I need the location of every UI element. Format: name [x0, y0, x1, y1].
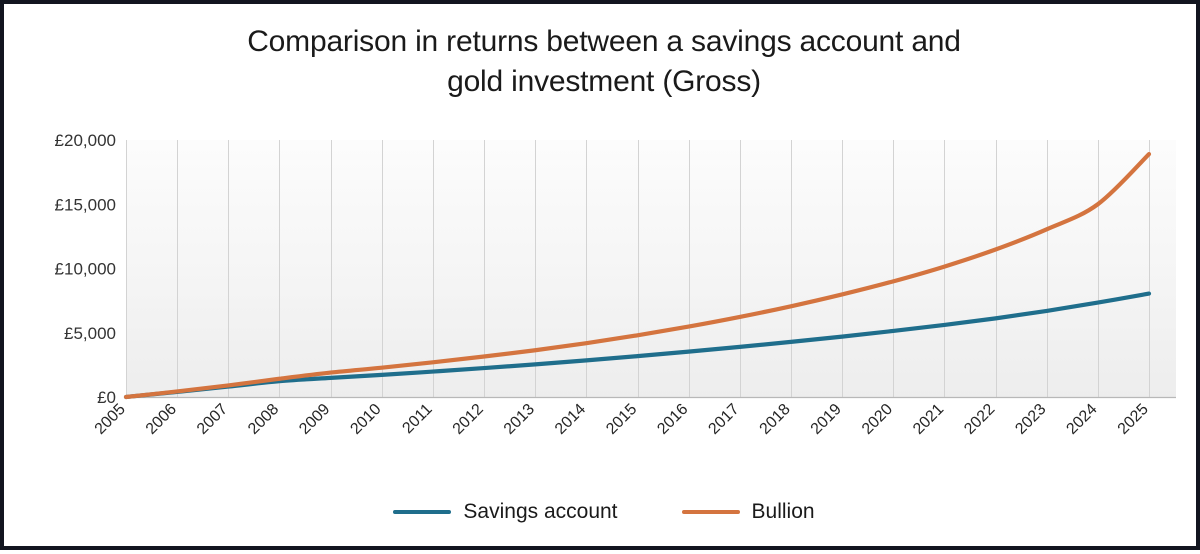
legend-item[interactable]: Savings account — [393, 500, 617, 524]
legend-item-label: Savings account — [463, 500, 617, 524]
x-axis-tick-label: 2008 — [245, 401, 282, 438]
x-axis-tick-label: 2024 — [1063, 401, 1100, 438]
x-axis-tick-label: 2007 — [194, 401, 231, 438]
plot-background — [126, 140, 1176, 398]
y-axis-ticks: £0£5,000£10,000£15,000£20,000 — [55, 131, 116, 407]
x-axis-tick-label: 2006 — [143, 401, 180, 438]
x-axis-tick-label: 2025 — [1115, 401, 1152, 438]
chart-plot: £0£5,000£10,000£15,000£20,000 2005200620… — [4, 4, 1200, 554]
legend-item-label: Bullion — [752, 500, 815, 524]
legend-swatch-icon — [393, 510, 451, 514]
y-axis-tick-label: £10,000 — [55, 260, 116, 279]
x-axis-tick-label: 2015 — [603, 401, 640, 438]
chart-frame: Comparison in returns between a savings … — [0, 0, 1200, 550]
x-axis-tick-label: 2023 — [1012, 401, 1049, 438]
y-axis-tick-label: £5,000 — [64, 324, 116, 343]
x-axis-tick-label: 2021 — [910, 401, 947, 438]
x-axis-tick-label: 2017 — [705, 401, 742, 438]
y-axis-tick-label: £15,000 — [55, 195, 116, 214]
x-axis-tick-label: 2010 — [347, 401, 384, 438]
x-axis-tick-label: 2013 — [501, 401, 538, 438]
legend-item[interactable]: Bullion — [682, 500, 815, 524]
x-axis-tick-label: 2011 — [399, 401, 435, 437]
x-axis-tick-label: 2016 — [654, 401, 691, 438]
x-axis-tick-label: 2014 — [552, 401, 589, 438]
legend-swatch-icon — [682, 510, 740, 514]
x-axis-tick-label: 2018 — [757, 401, 794, 438]
y-axis-tick-label: £20,000 — [55, 131, 116, 150]
x-axis-tick-label: 2009 — [296, 401, 333, 438]
x-axis-tick-label: 2022 — [961, 401, 998, 438]
x-axis-tick-label: 2012 — [450, 401, 487, 438]
chart-legend: Savings accountBullion — [4, 500, 1200, 524]
x-axis-tick-label: 2020 — [859, 401, 896, 438]
x-axis-tick-label: 2019 — [808, 401, 845, 438]
gridlines — [127, 140, 1150, 397]
x-axis-ticks: 2005200620072008200920102011201220132014… — [92, 401, 1152, 438]
